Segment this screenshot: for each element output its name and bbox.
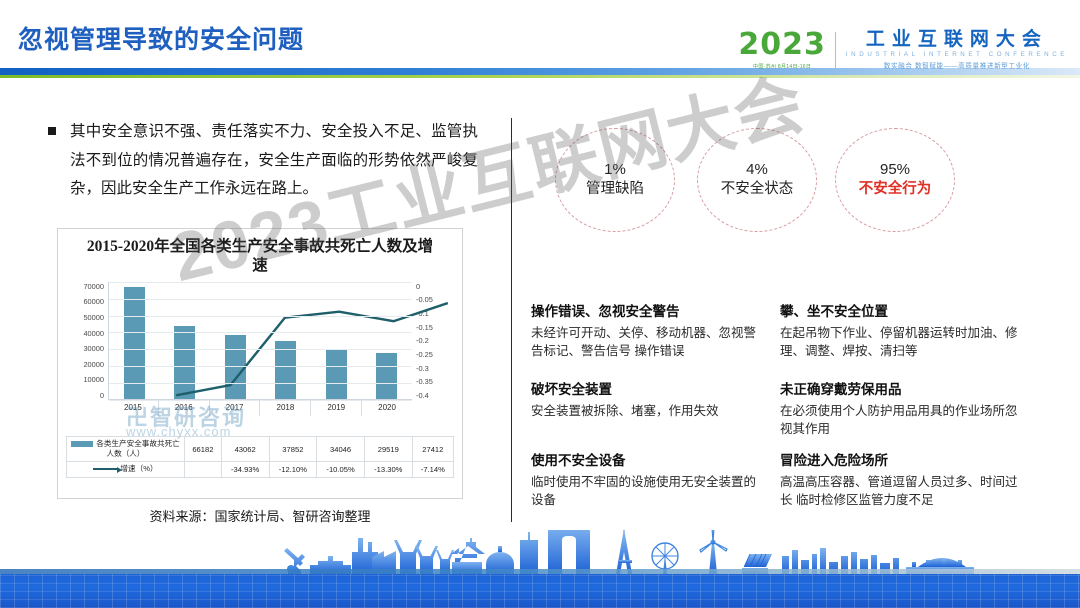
chart-title: 2015-2020年全国各类生产安全事故共死亡人数及增速 (84, 238, 436, 276)
x-tick-label: 2019 (311, 400, 362, 416)
stat-percent: 95% (880, 161, 910, 180)
series-legend-label: 增速（%） (67, 462, 185, 477)
y-tick-label: 50000 (83, 313, 104, 322)
info-block-body: 高温高压容器、管道逗留人员过多、时间过长 临时检修区监管力度不足 (780, 473, 1024, 509)
y-tick-label: 60000 (83, 297, 104, 306)
x-tick-label: 2016 (159, 400, 210, 416)
info-block-damage-safety-device: 破坏安全装置 安全装置被拆除、堵塞，作用失效 (531, 381, 763, 420)
table-cell: 27412 (412, 436, 453, 462)
footer-skyline (0, 530, 1080, 608)
legend-line-icon (93, 468, 117, 470)
y-tick-label: 40000 (83, 329, 104, 338)
logo-year: 2023 (738, 30, 826, 60)
x-tick-label: 2020 (362, 400, 412, 416)
page-title: 忽视管理导致的安全问题 (18, 20, 304, 56)
stat-percent: 4% (746, 161, 768, 180)
chart-plot (108, 282, 412, 400)
table-row: 各类生产安全事故共死亡人数（人）661824306237852340462951… (67, 436, 454, 462)
info-block-ppe: 未正确穿戴劳保用品 在必须使用个人防护用品用具的作业场所忽视其作用 (780, 381, 1024, 438)
table-cell: -12.10% (269, 462, 317, 477)
table-cell: -13.30% (364, 462, 412, 477)
table-cell: 37852 (269, 436, 317, 462)
logo-english-name: INDUSTRIAL INTERNET CONFERENCE (846, 51, 1068, 58)
bullet-square-icon (48, 127, 56, 135)
info-block-heading: 攀、坐不安全位置 (780, 303, 1024, 321)
info-block-heading: 使用不安全设备 (531, 452, 763, 470)
chart-gridline (109, 383, 412, 384)
chart-card: 2015-2020年全国各类生产安全事故共死亡人数及增速 70000600005… (57, 228, 463, 499)
vertical-divider (511, 118, 512, 522)
header-divider-green (0, 75, 1080, 78)
table-cell: -10.05% (317, 462, 365, 477)
info-block-body: 安全装置被拆除、堵塞，作用失效 (531, 402, 763, 420)
x-tick-label: 2015 (108, 400, 159, 416)
x-tick-label: 2018 (260, 400, 311, 416)
ground-grid (0, 574, 1080, 608)
chart-y-axis-left: 700006000050000400003000020000100000 (68, 282, 104, 400)
series-legend-label: 各类生产安全事故共死亡人数（人） (67, 436, 185, 462)
info-block-unsafe-equipment: 使用不安全设备 临时使用不牢固的设施使用无安全装置的设备 (531, 452, 763, 509)
logo-chinese-name: 工业互联网大会 (846, 30, 1068, 50)
info-block-heading: 未正确穿戴劳保用品 (780, 381, 1024, 399)
info-block-body: 临时使用不牢固的设施使用无安全装置的设备 (531, 473, 763, 509)
info-block-heading: 破坏安全装置 (531, 381, 763, 399)
bullet-text: 其中安全意识不强、责任落实不力、安全投入不足、监管执法不到位的情况普遍存在，安全… (70, 118, 478, 204)
logo-subtitle: 数实融合 数智赋能——高质量推进新型工业化 (846, 60, 1068, 70)
stat-caption: 不安全状态 (721, 180, 794, 199)
chart-gridline (109, 349, 412, 350)
chart-gridline (109, 282, 412, 283)
stat-circle-unsafe-behavior: 95% 不安全行为 (835, 128, 955, 232)
chart-x-axis: 201520162017201820192020 (108, 400, 412, 416)
chart-gridline (109, 316, 412, 317)
info-block-dangerous-place: 冒险进入危险场所 高温高压容器、管道逗留人员过多、时间过长 临时检修区监管力度不… (780, 452, 1024, 509)
table-cell: 66182 (185, 436, 222, 462)
info-block-heading: 操作错误、忽视安全警告 (531, 303, 763, 321)
info-block-body: 在起吊物下作业、停留机器运转时加油、修理、调整、焊按、清扫等 (780, 324, 1024, 360)
stat-percent: 1% (604, 161, 626, 180)
info-block-operation-error: 操作错误、忽视安全警告 未经许可开动、关停、移动机器、忽视警告标记、警告信号 操… (531, 303, 763, 360)
y-tick-label: 30000 (83, 344, 104, 353)
city-skyline-icon (0, 530, 1080, 574)
y-tick-label: 70000 (83, 282, 104, 291)
legend-bar-icon (71, 441, 93, 447)
chart-data-table: 各类生产安全事故共死亡人数（人）661824306237852340462951… (66, 436, 454, 478)
stat-caption: 管理缺陷 (586, 180, 644, 199)
stat-caption: 不安全行为 (859, 180, 932, 199)
chart-data-table-body: 各类生产安全事故共死亡人数（人）661824306237852340462951… (67, 436, 454, 477)
logo-name-block: 工业互联网大会 INDUSTRIAL INTERNET CONFERENCE 数… (836, 30, 1068, 71)
table-row: 增速（%）-34.93%-12.10%-10.05%-13.30%-7.14% (67, 462, 454, 477)
slide: 忽视管理导致的安全问题 2023 中国·苏州 8月14日-16日 工业互联网大会… (0, 0, 1080, 608)
table-cell: 34046 (317, 436, 365, 462)
info-block-body: 在必须使用个人防护用品用具的作业场所忽视其作用 (780, 402, 1024, 438)
stat-circle-management-defect: 1% 管理缺陷 (555, 128, 675, 232)
chart-gridline (109, 299, 412, 300)
stat-circle-unsafe-condition: 4% 不安全状态 (697, 128, 817, 232)
conference-logo: 2023 中国·苏州 8月14日-16日 工业互联网大会 INDUSTRIAL … (738, 28, 1068, 72)
y-tick-label: 10000 (83, 375, 104, 384)
chart-source-note: 资料来源：国家统计局、智研咨询整理 (57, 506, 463, 525)
x-tick-label: 2017 (210, 400, 261, 416)
chart-plot-area: 700006000050000400003000020000100000 0-0… (68, 282, 452, 417)
chart-gridline (109, 332, 412, 333)
logo-date: 中国·苏州 8月14日-16日 (738, 63, 826, 70)
table-cell: -7.14% (412, 462, 453, 477)
bullet-paragraph: 其中安全意识不强、责任落实不力、安全投入不足、监管执法不到位的情况普遍存在，安全… (48, 118, 478, 204)
table-cell (185, 462, 222, 477)
chart-gridline (109, 366, 412, 367)
logo-year-block: 2023 中国·苏州 8月14日-16日 (738, 30, 835, 70)
info-block-unsafe-position: 攀、坐不安全位置 在起吊物下作业、停留机器运转时加油、修理、调整、焊按、清扫等 (780, 303, 1024, 360)
table-cell: 43062 (221, 436, 269, 462)
table-cell: 29519 (364, 436, 412, 462)
y-tick-label: 0 (100, 391, 104, 400)
y-tick-label: 20000 (83, 360, 104, 369)
info-block-heading: 冒险进入危险场所 (780, 452, 1024, 470)
statistics-circles: 1% 管理缺陷 4% 不安全状态 95% 不安全行为 (545, 126, 975, 236)
info-block-body: 未经许可开动、关停、移动机器、忽视警告标记、警告信号 操作错误 (531, 324, 763, 360)
table-cell: -34.93% (221, 462, 269, 477)
